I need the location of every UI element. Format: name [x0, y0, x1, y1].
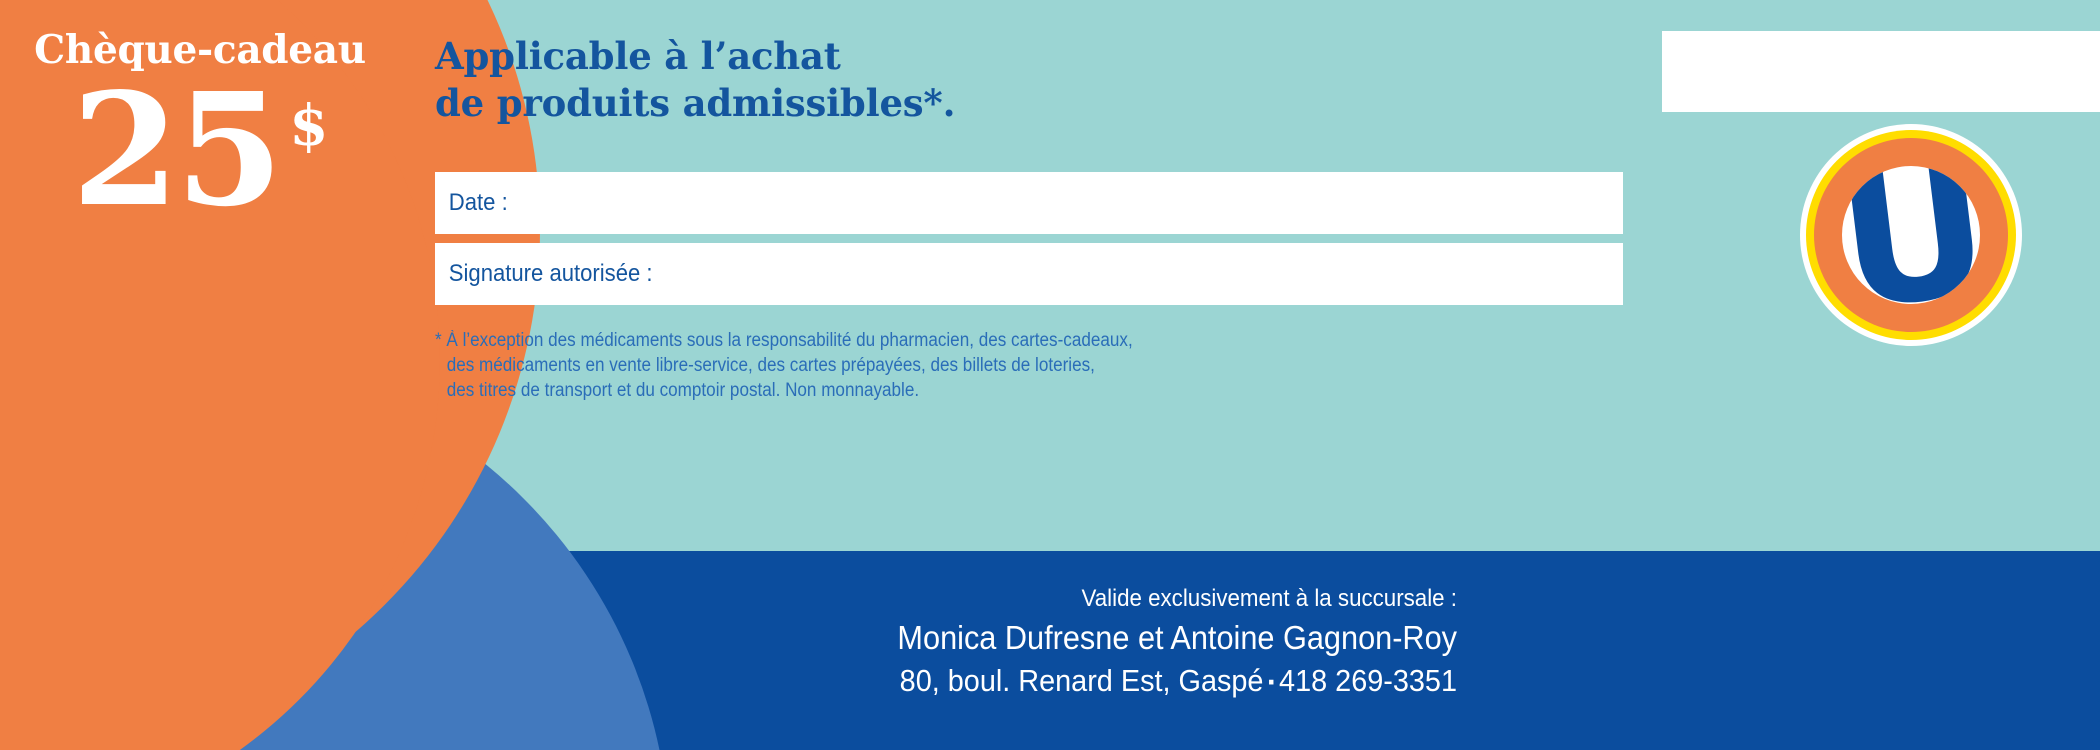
headline-line-1: Applicable à l’achat	[435, 33, 955, 80]
fineprint-disclaimer: * À l’exception des médicaments sous la …	[435, 328, 1210, 403]
logo-letter-u-icon: U	[1842, 166, 1980, 304]
store-validity-label: Valide exclusivement à la succursale :	[248, 585, 1457, 613]
uniprix-u-logo: U	[1800, 124, 2022, 346]
fineprint-line-2: des médicaments en vente libre-service, …	[435, 353, 1133, 378]
headline-line-2: de produits admissibles*.	[435, 80, 955, 127]
store-info: Valide exclusivement à la succursale : M…	[157, 585, 1457, 702]
signature-field[interactable]: Signature autorisée :	[435, 243, 1623, 305]
store-address-line: 80, boul. Renard Est, Gaspé▪418 269-3351	[248, 661, 1457, 701]
gift-certificate: Chèque-cadeau 25 $ Applicable à l’achat …	[0, 0, 2100, 750]
signature-field-label: Signature autorisée :	[435, 260, 653, 288]
voucher-value-panel: Chèque-cadeau 25 $	[0, 0, 400, 300]
store-street-address: 80, boul. Renard Est, Gaspé	[900, 663, 1264, 698]
voucher-currency-symbol: $	[289, 98, 328, 154]
asterisk-marker: *	[435, 330, 442, 351]
fineprint-line-3: des titres de transport et du comptoir p…	[435, 378, 1133, 403]
voucher-amount-row: 25 $	[0, 76, 400, 223]
fineprint-line-1: * À l’exception des médicaments sous la …	[435, 328, 1133, 353]
separator-bullet-icon: ▪	[1263, 672, 1279, 693]
voucher-code-box[interactable]	[1662, 31, 2100, 112]
date-field[interactable]: Date :	[435, 172, 1623, 234]
store-phone: 418 269-3351	[1279, 663, 1457, 698]
store-name: Monica Dufresne et Antoine Gagnon-Roy	[248, 617, 1457, 660]
headline: Applicable à l’achat de produits admissi…	[435, 33, 955, 126]
logo-inner-disc: U	[1842, 166, 1980, 304]
fineprint-line-1-text: À l’exception des médicaments sous la re…	[446, 330, 1132, 351]
date-field-label: Date :	[435, 189, 508, 217]
voucher-amount: 25	[72, 76, 280, 223]
